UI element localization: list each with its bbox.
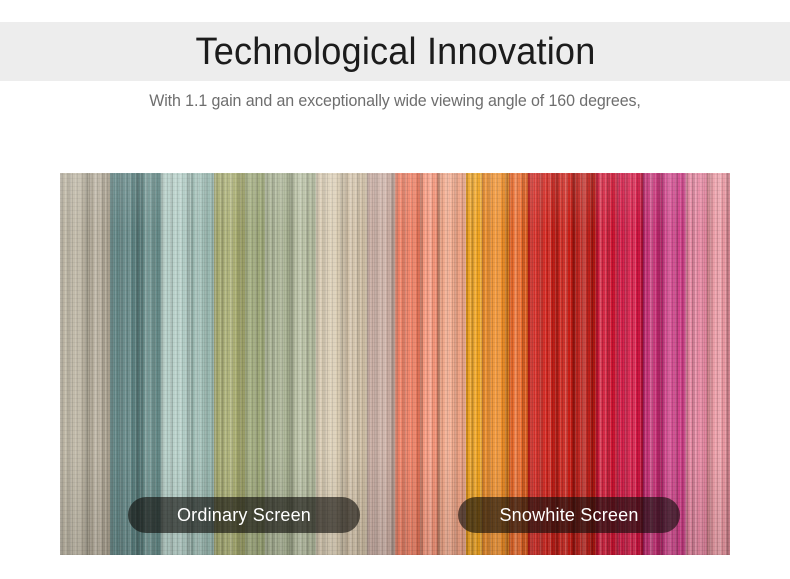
fabric-strip [60,173,91,555]
fabric-strip [367,173,397,555]
promo-page: Technological Innovation With 1.1 gain a… [0,0,790,579]
fabric-strip [395,173,423,555]
snowhite-screen-label: Snowhite Screen [458,497,680,533]
ordinary-screen-label: Ordinary Screen [128,497,360,533]
fabric-strip [438,173,469,555]
fabric-strip [707,173,730,555]
title-band: Technological Innovation [0,22,790,81]
page-title: Technological Innovation [195,33,595,71]
subtitle-text: With 1.1 gain and an exceptionally wide … [12,92,778,111]
